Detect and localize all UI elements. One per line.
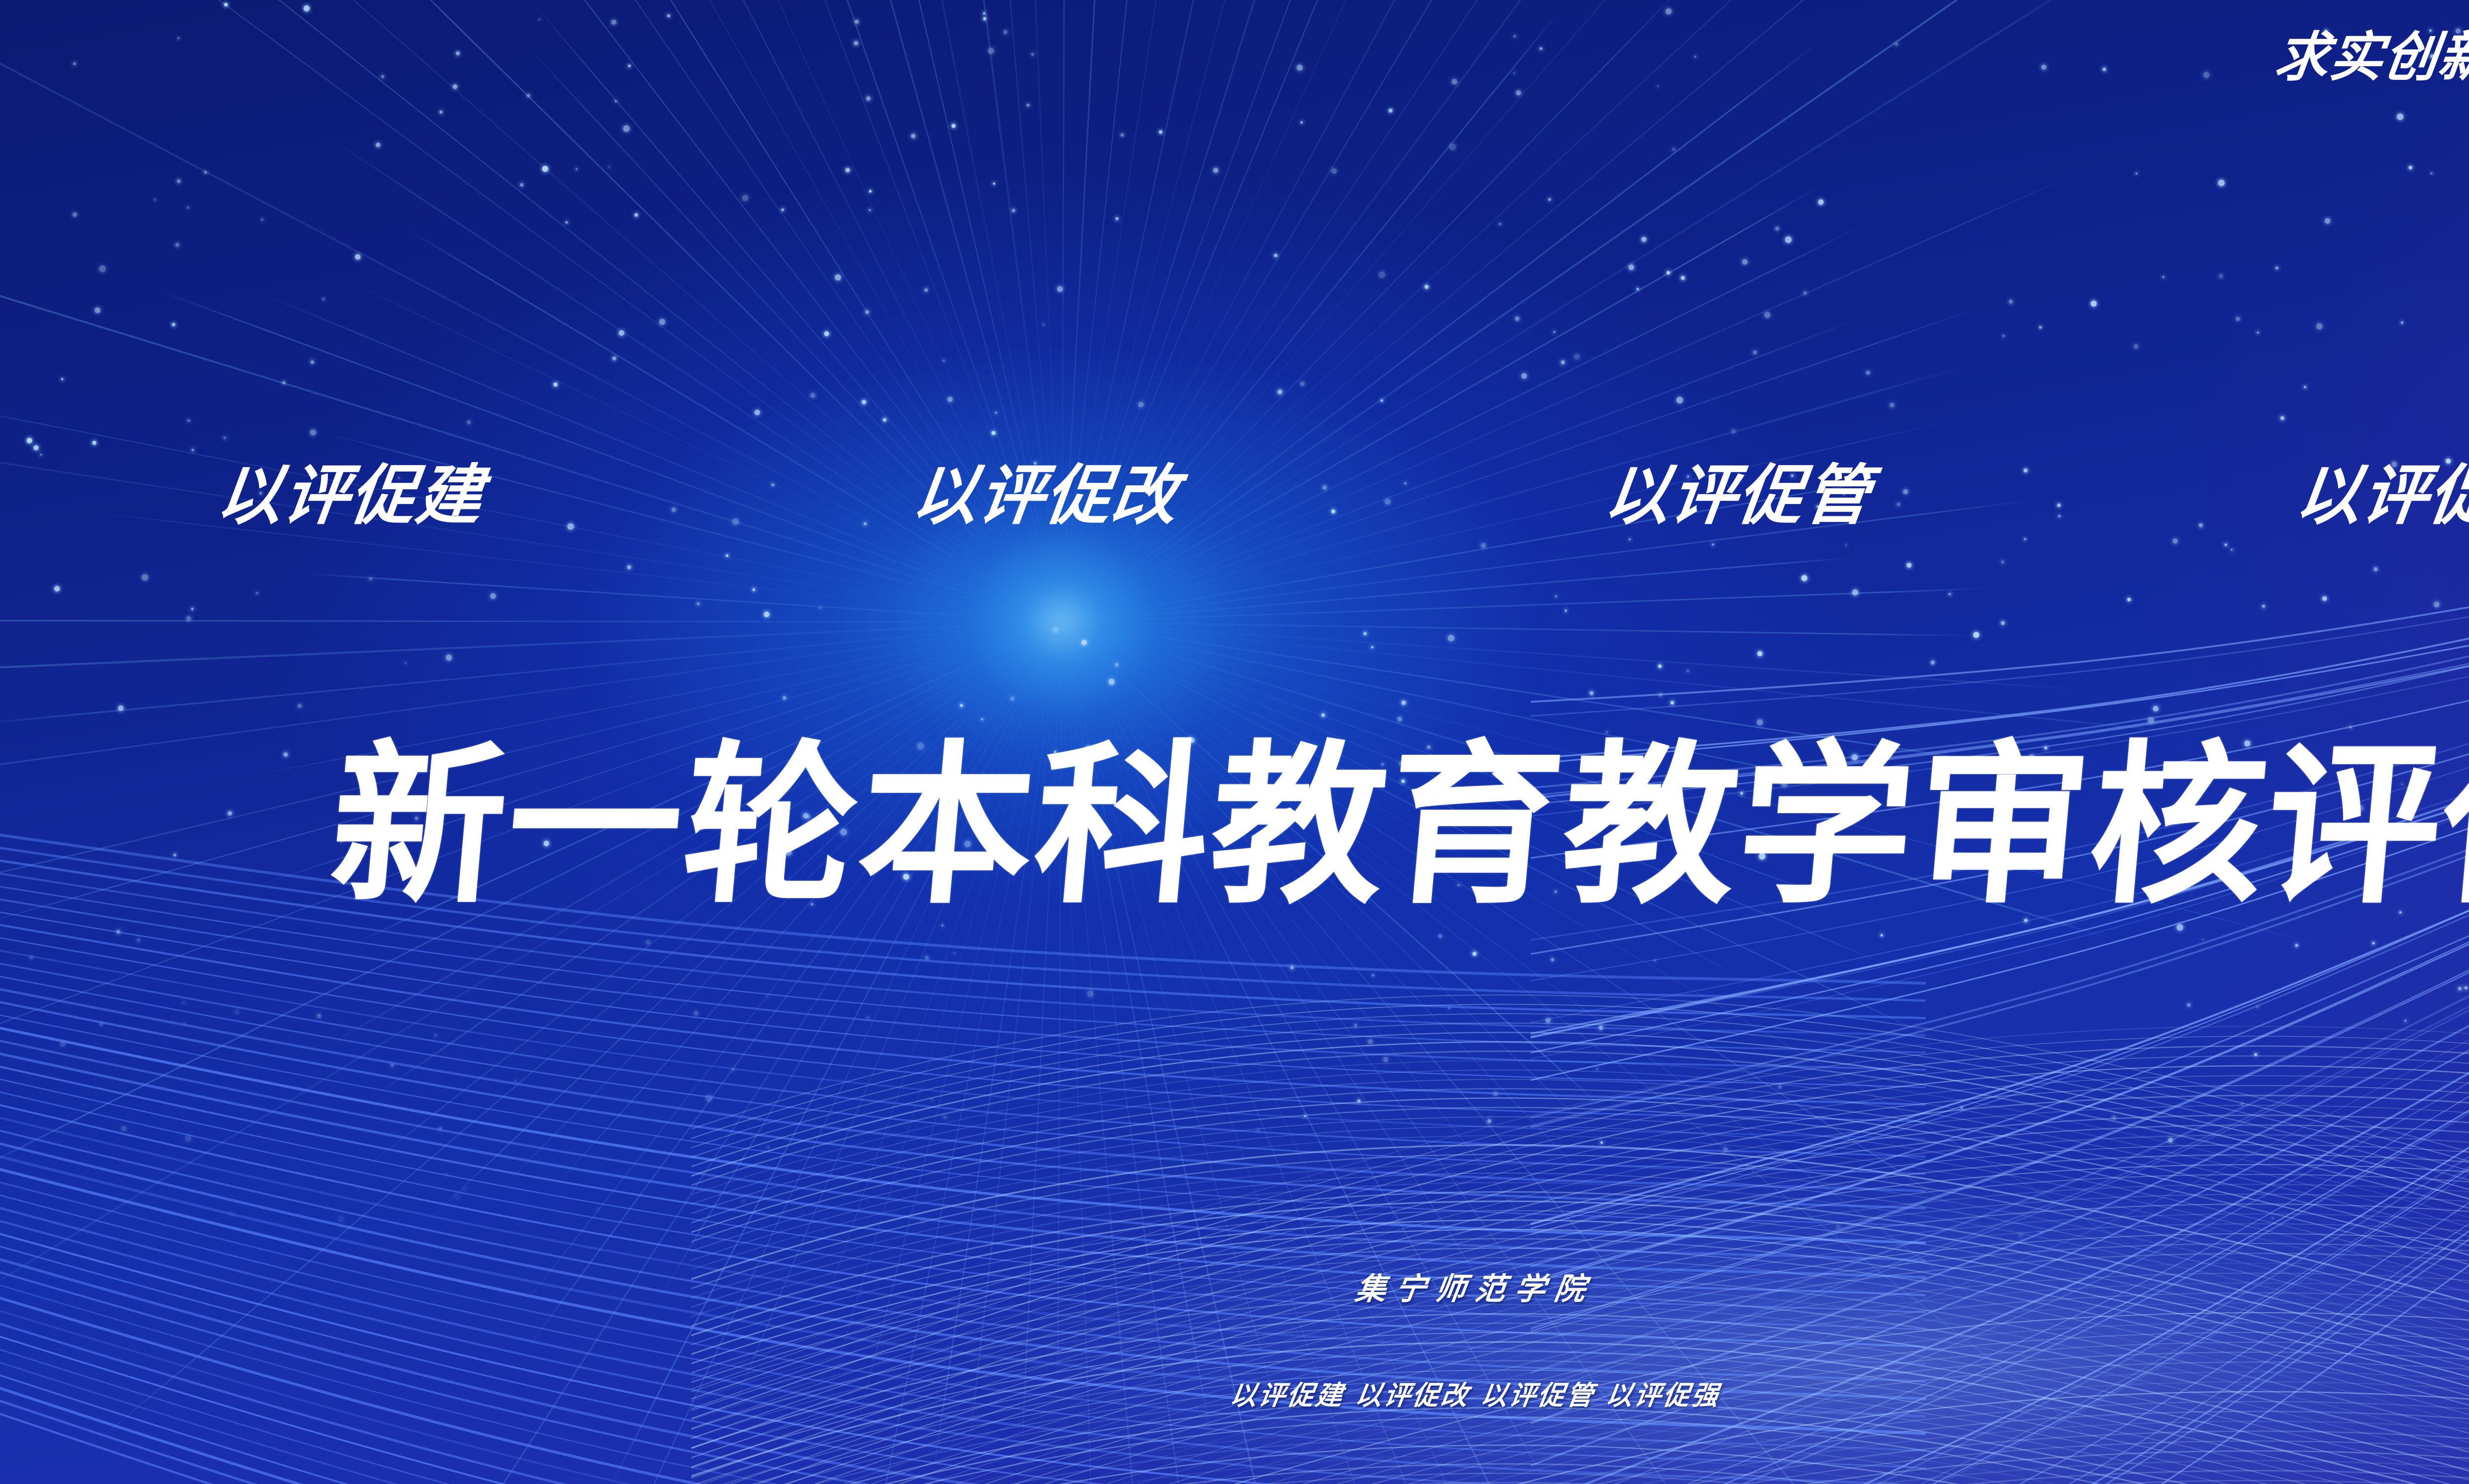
- institution-name: 集宁师范学院: [1353, 1264, 1597, 1308]
- footer-tagline: 以评促建 以评促改 以评促管 以评促强: [1228, 1373, 1723, 1412]
- slogan-item-4: 以评促强: [2292, 463, 2469, 528]
- headline-title: 新一轮本科教育教学审核评估: [324, 740, 2469, 913]
- slogan-item-2: 以评促改: [909, 463, 1183, 528]
- poster-canvas: 求实创新 为人师表 以评促建 以评促改 以评促管 以评促强 新一轮本科教育教学审…: [0, 0, 2469, 1484]
- slogan-item-3: 以评促管: [1601, 463, 1875, 528]
- motto-part-1: 求实创新: [2271, 26, 2469, 88]
- slogan-item-1: 以评促建: [213, 463, 487, 528]
- motto-text: 求实创新 为人师表: [2272, 31, 2469, 84]
